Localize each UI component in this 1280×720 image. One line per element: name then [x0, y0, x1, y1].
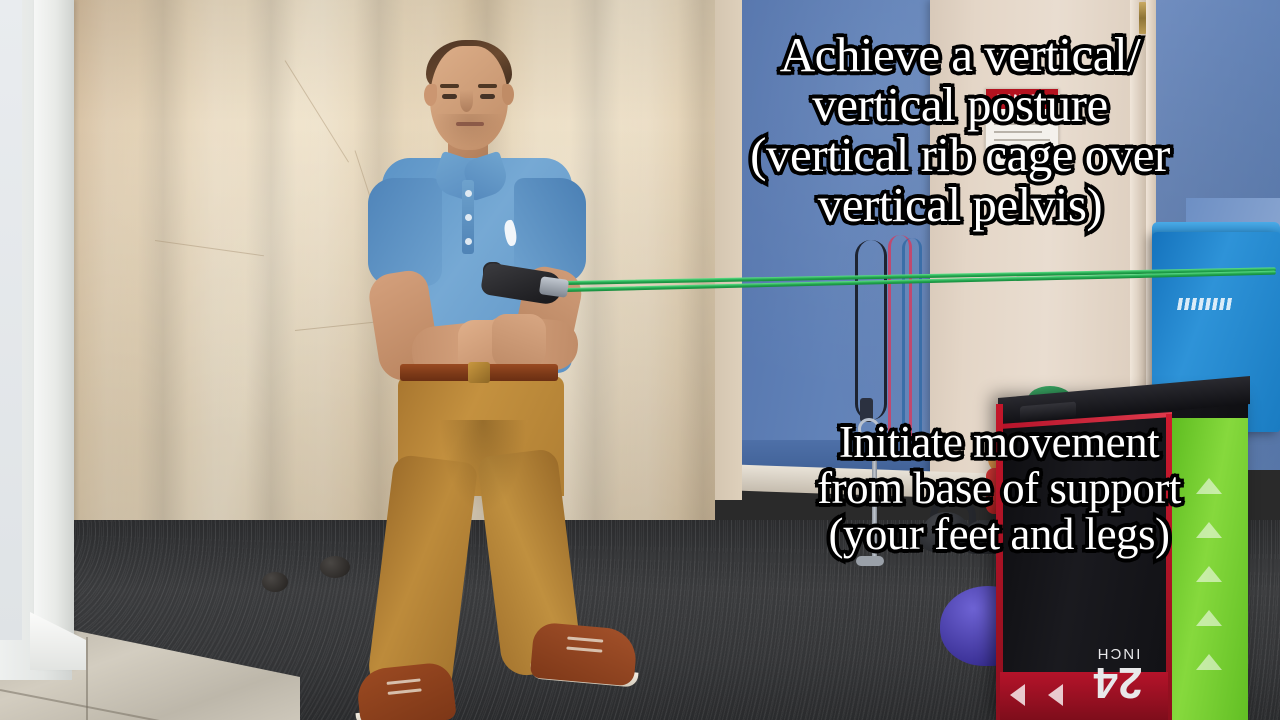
tile-seam: [0, 689, 295, 720]
shoe-lace: [567, 636, 603, 642]
jaw-shading: [434, 114, 504, 148]
shirt-button: [465, 214, 472, 221]
chevron-up-icon: [1196, 654, 1222, 670]
hanging-resistance-tube-blue: [902, 238, 922, 443]
chevron-right-icon: [1010, 684, 1025, 706]
chevron-up-icon: [1196, 566, 1222, 582]
plyo-box-size-unit: INCH: [1060, 645, 1176, 662]
eyebrow-left: [440, 84, 459, 88]
movement-cue-caption: Initiate movement from base of support (…: [718, 420, 1280, 558]
caption-line: (vertical rib cage over: [640, 130, 1280, 180]
caption-line: vertical pelvis): [640, 180, 1280, 230]
left-door-frame: [34, 0, 74, 668]
shoe-lace: [566, 646, 602, 652]
pants-shading: [438, 420, 528, 516]
caption-line: from base of support: [718, 466, 1280, 512]
shoe-right: [530, 622, 638, 687]
shoe-lace: [387, 678, 421, 685]
eye-left: [442, 94, 457, 99]
hand-right: [492, 314, 546, 370]
shirt-button: [465, 238, 472, 245]
plyo-box-size-label: 24 INCH: [1060, 636, 1176, 702]
chevron-up-icon: [1196, 610, 1222, 626]
sleeve-left: [368, 178, 442, 286]
eyebrow-right: [478, 84, 497, 88]
left-glass-panel: [0, 0, 22, 640]
video-frame: DANGER: [0, 0, 1280, 720]
subject-person: [320, 28, 650, 708]
mat-brand-logo: [1177, 298, 1233, 310]
ear-left: [424, 84, 437, 106]
eye-right: [480, 94, 495, 99]
hanging-resistance-tube-black: [855, 240, 887, 420]
nose: [460, 90, 473, 112]
caption-line: Achieve a vertical/: [640, 30, 1280, 80]
curtain-caster: [262, 572, 288, 592]
belt-buckle: [468, 362, 490, 383]
caption-line: (your feet and legs): [718, 512, 1280, 558]
caption-line: vertical posture: [640, 80, 1280, 130]
shoe-lace: [388, 688, 422, 695]
plyo-box-size-number: 24: [1060, 662, 1176, 702]
ear-right: [502, 84, 514, 105]
tile-seam: [86, 637, 88, 720]
caption-line: Initiate movement: [718, 420, 1280, 466]
curtain-crease: [155, 240, 264, 256]
shirt-button: [465, 190, 472, 197]
resistance-band-clip: [539, 276, 569, 298]
posture-cue-caption: Achieve a vertical/ vertical posture (ve…: [640, 30, 1280, 230]
